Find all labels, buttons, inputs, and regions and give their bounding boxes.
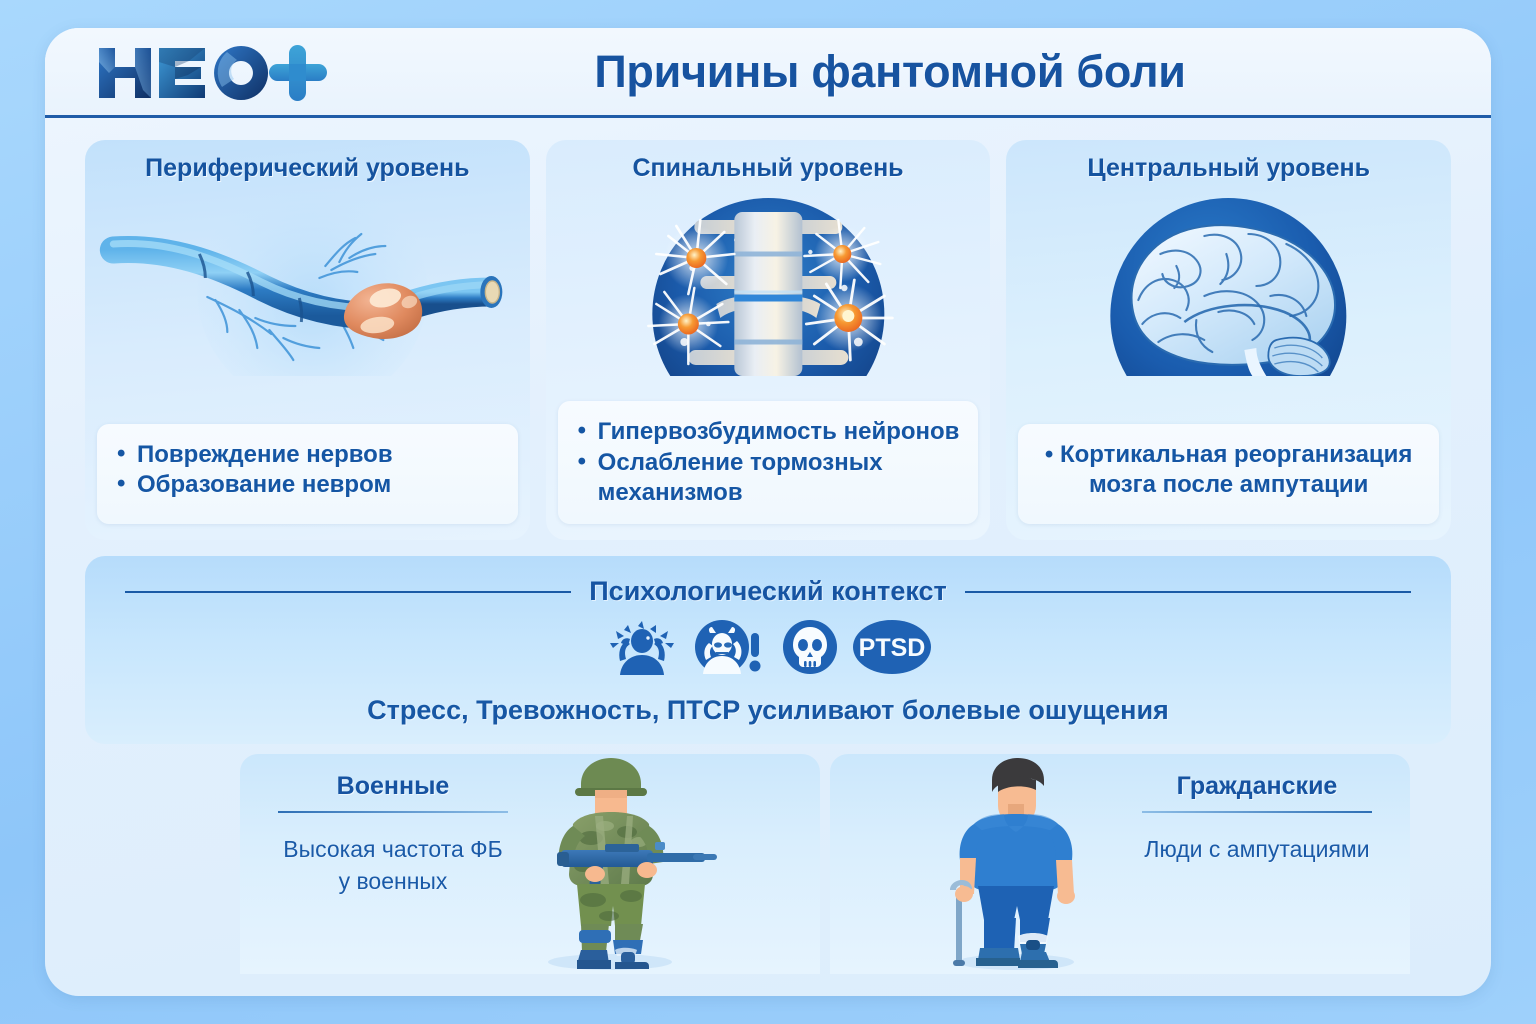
level-title-central: Центральный уровень: [1006, 154, 1451, 183]
group-title-civilian: Гражданские: [1142, 772, 1372, 801]
ptsd-badge-text: PTSD: [859, 634, 926, 662]
peripheral-bullets-box: Повреждение нервов Образование невром: [97, 424, 518, 524]
group-panel-civilian: Гражданские Люди с ампутациями: [830, 754, 1410, 974]
levels-row: Периферический уровень: [85, 140, 1451, 540]
group-divider-military: [278, 811, 508, 813]
group-panel-military: Военные Высокая частота ФБ у военных: [240, 754, 820, 974]
brain-head-illustration-icon: [1006, 192, 1451, 376]
peripheral-nerve-neuroma-illustration-icon: [85, 192, 530, 376]
psych-caption: Стресс, Тревожность, ПТСР усиливают боле…: [85, 695, 1451, 726]
military-text-block: Военные Высокая частота ФБ у военных: [278, 772, 508, 897]
psych-section-header: Психологический контекст: [85, 576, 1451, 607]
spinal-cord-neurons-illustration-icon: [546, 192, 991, 376]
spinal-bullets-box: Гипервозбудимость нейронов Ослабление то…: [558, 401, 979, 524]
divider-right: [965, 591, 1411, 593]
list-item: Гипервозбудимость нейронов: [576, 417, 961, 447]
level-card-central: Центральный уровень: [1006, 140, 1451, 540]
civilian-with-cane-and-prosthetic-leg-figure-icon: [920, 754, 1110, 970]
level-title-peripheral: Периферический уровень: [85, 154, 530, 183]
psychological-context-panel: Психологический контекст: [85, 556, 1451, 744]
civilian-text-block: Гражданские Люди с ампутациями: [1142, 772, 1372, 865]
soldier-with-prosthetic-leg-figure-icon: [495, 754, 725, 970]
list-item: Образование невром: [115, 470, 500, 500]
main-card: Причины фантомной боли Периферический ур…: [45, 28, 1491, 996]
population-groups-row: Военные Высокая частота ФБ у военных: [85, 754, 1451, 974]
header-bar: Причины фантомной боли: [45, 28, 1491, 118]
psych-icon-row: PTSD: [85, 618, 1451, 676]
anxiety-exclamation-icon: [694, 619, 768, 675]
group-divider-civilian: [1142, 811, 1372, 813]
group-description-military: Высокая частота ФБ у военных: [278, 833, 508, 897]
neo-plus-logo-icon: [93, 42, 333, 104]
skull-icon: [782, 619, 838, 675]
group-description-civilian: Люди с ампутациями: [1142, 833, 1372, 865]
list-item: Кортикальная реорганизация мозга после а…: [1036, 440, 1421, 500]
group-title-military: Военные: [278, 772, 508, 801]
page-title: Причины фантомной боли: [375, 28, 1405, 116]
central-bullets-box: Кортикальная реорганизация мозга после а…: [1018, 424, 1439, 524]
psych-section-label: Психологический контекст: [589, 576, 946, 607]
level-card-spinal: Спинальный уровень: [546, 140, 991, 540]
divider-left: [125, 591, 571, 593]
list-item: Ослабление тормозных механизмов: [576, 448, 961, 508]
infographic-root: Причины фантомной боли Периферический ур…: [0, 0, 1536, 1024]
level-card-peripheral: Периферический уровень: [85, 140, 530, 540]
stress-head-clutch-icon: [604, 619, 680, 675]
list-item: Повреждение нервов: [115, 440, 500, 470]
level-title-spinal: Спинальный уровень: [546, 154, 991, 183]
ptsd-badge-icon: PTSD: [852, 619, 932, 675]
